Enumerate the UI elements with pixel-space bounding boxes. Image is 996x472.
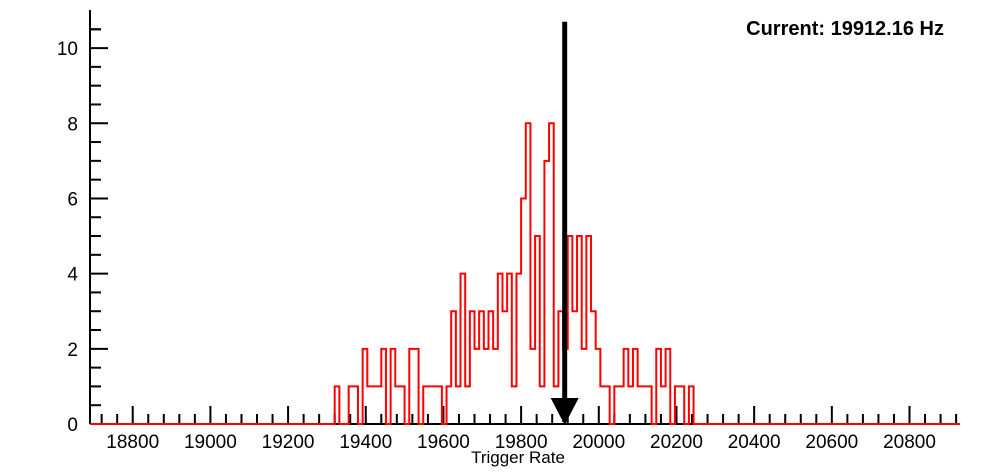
x-tick-label: 20800 — [883, 432, 936, 453]
trigger-rate-histogram: 0246810 18800190001920019400196001980020… — [0, 0, 996, 472]
y-tick-label: 10 — [57, 39, 78, 60]
x-tick-label: 19400 — [339, 432, 392, 453]
x-tick-label: 19000 — [184, 432, 237, 453]
y-tick-label: 4 — [67, 265, 78, 286]
y-tick-label: 6 — [67, 189, 78, 210]
y-tick-label: 2 — [67, 340, 78, 361]
y-tick-label: 8 — [67, 114, 78, 135]
plot-background — [0, 0, 996, 472]
x-tick-label: 20400 — [728, 432, 781, 453]
x-tick-label: 18800 — [106, 432, 159, 453]
current-rate-annotation: Current: 19912.16 Hz — [746, 18, 944, 40]
x-tick-label: 19200 — [262, 432, 315, 453]
x-tick-label: 20000 — [572, 432, 625, 453]
y-tick-label: 0 — [67, 415, 78, 436]
x-tick-label: 19600 — [417, 432, 470, 453]
histogram-canvas: 0246810 18800190001920019400196001980020… — [0, 0, 996, 472]
x-tick-label: 20600 — [805, 432, 858, 453]
x-tick-label: 20200 — [650, 432, 703, 453]
x-axis-title: Trigger Rate — [471, 448, 565, 467]
